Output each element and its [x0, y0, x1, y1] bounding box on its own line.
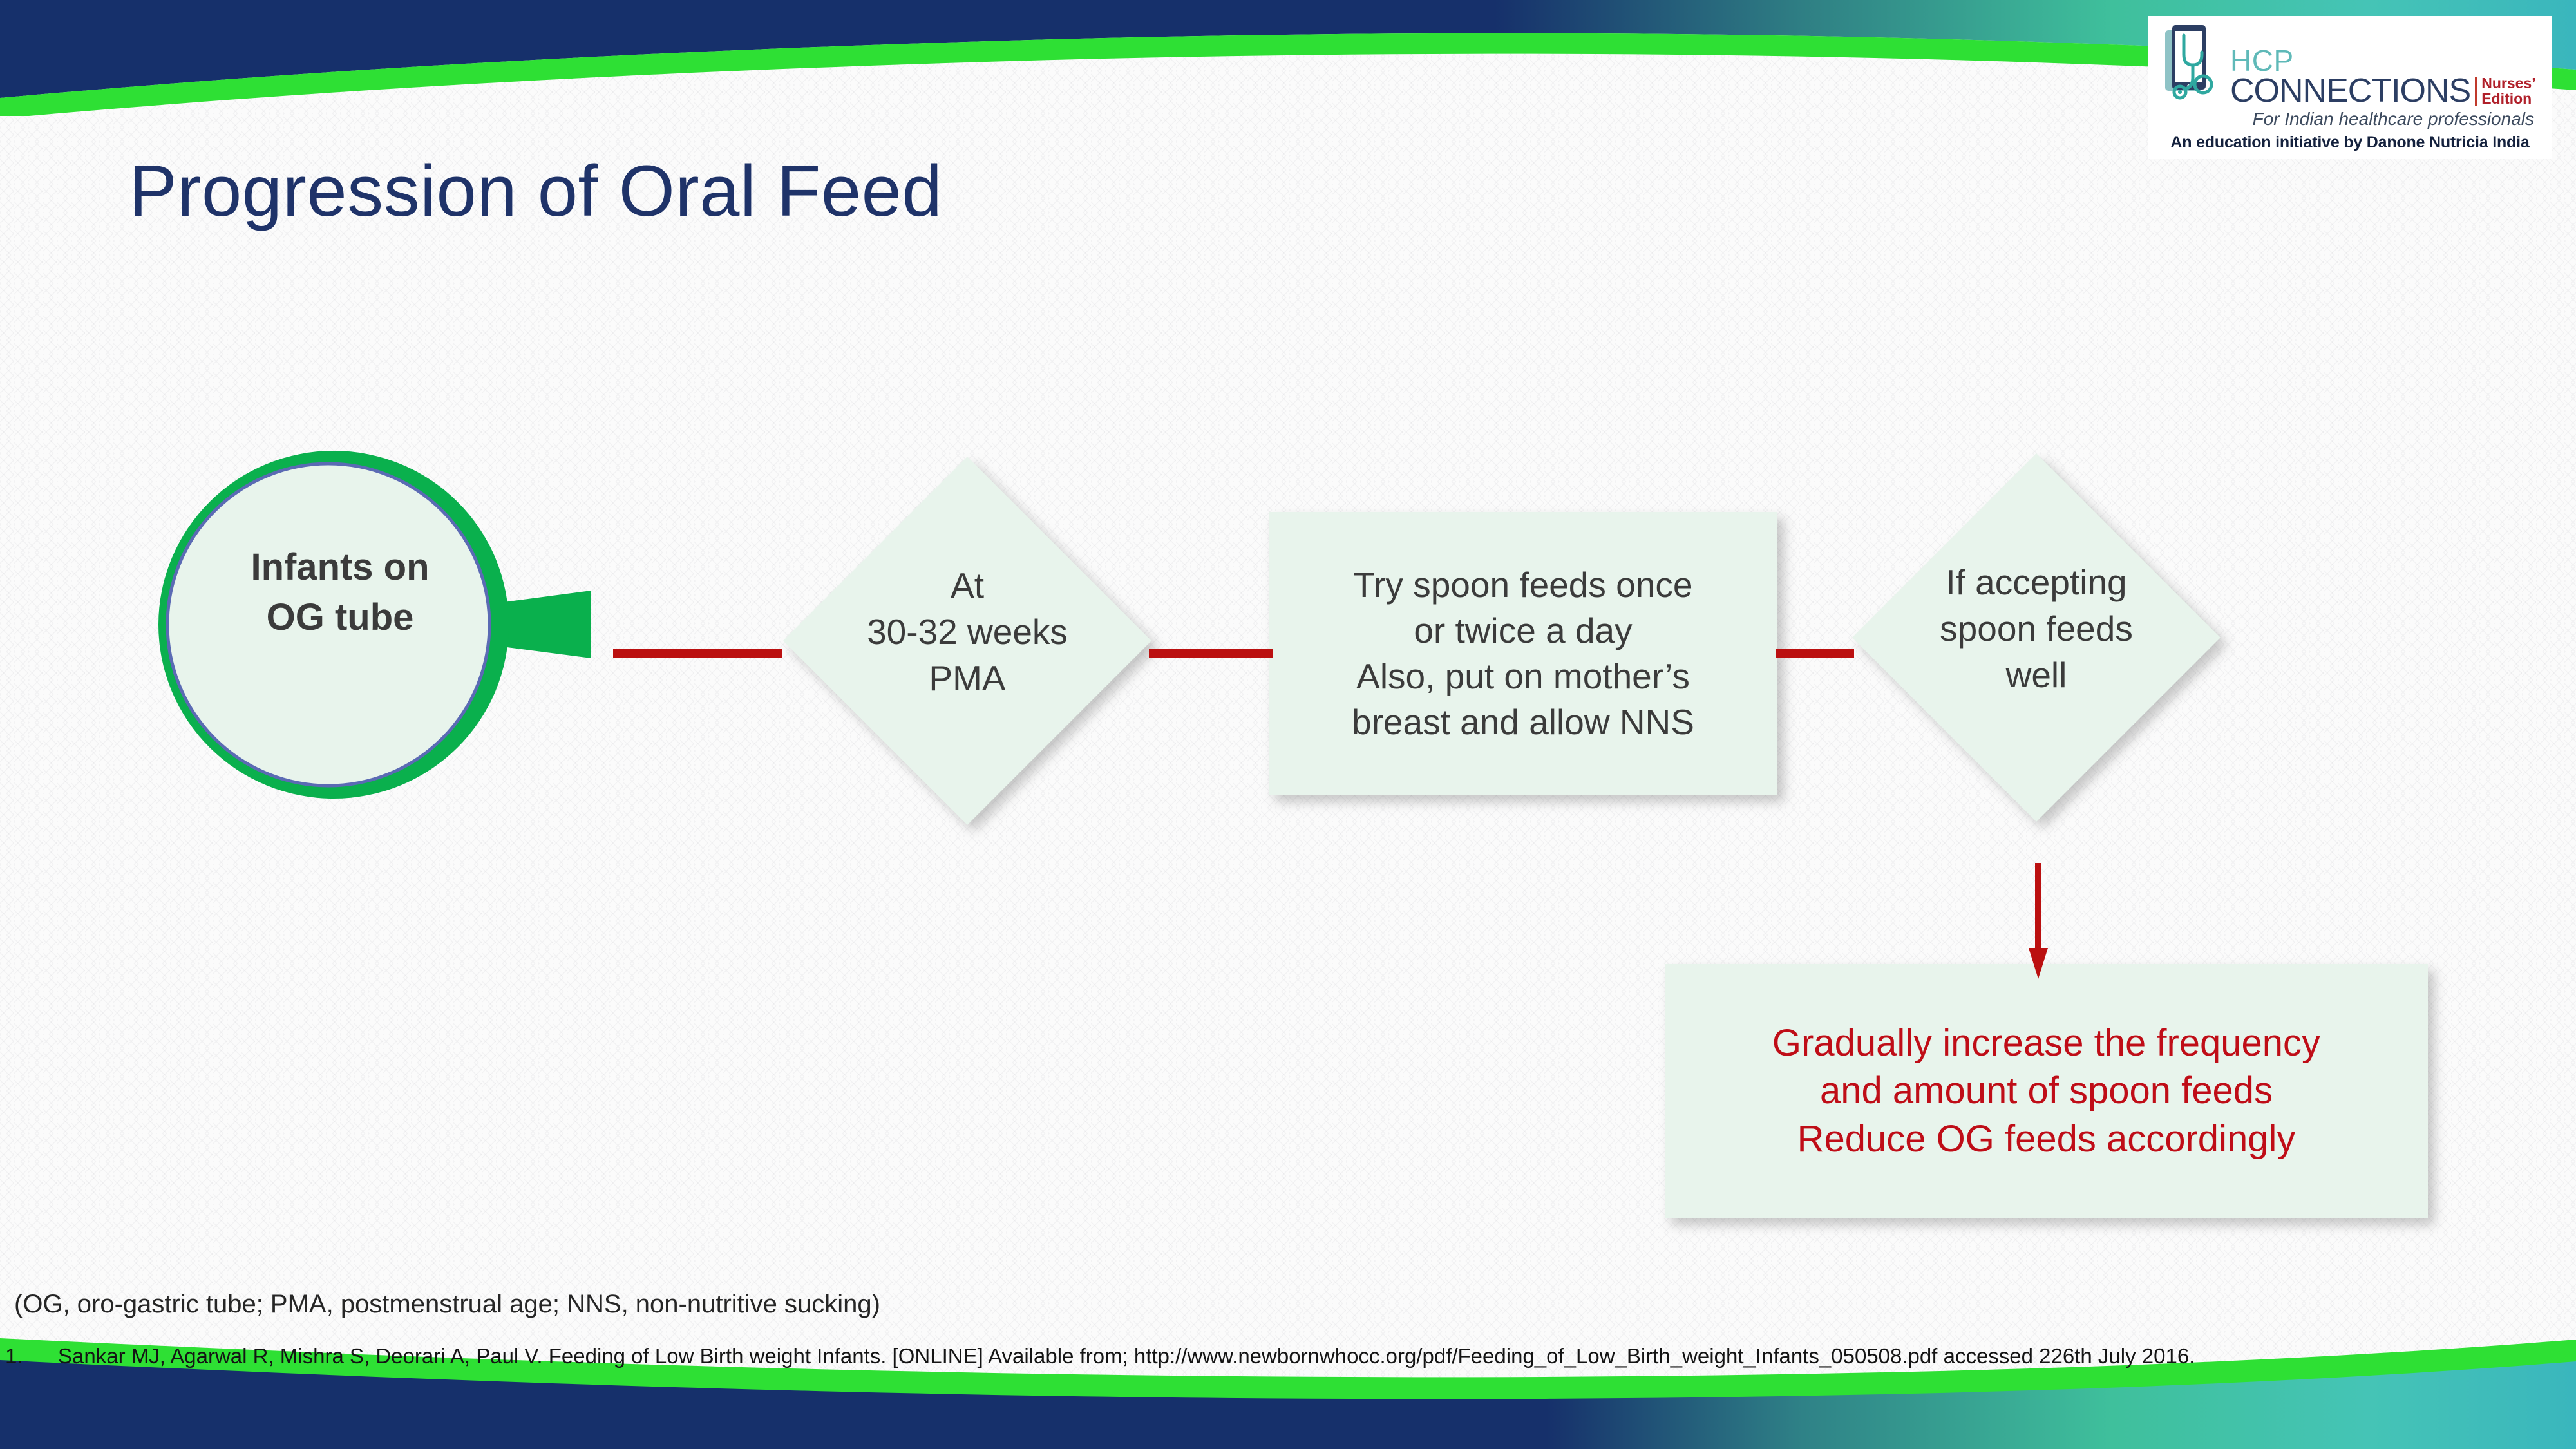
flow-node-decision-pma[interactable]: At 30-32 weeks PMA [781, 454, 1154, 828]
logo-divider [2475, 77, 2477, 106]
logo-initiative-text: An education initiative by Danone Nutric… [2163, 133, 2537, 152]
logo-hcp-text: HCP [2230, 46, 2537, 75]
down-arrow-icon [2029, 863, 2048, 979]
flow-node-decision-pma-label: At 30-32 weeks PMA [781, 562, 1154, 701]
spoon-line-1: Try spoon feeds once [1352, 562, 1694, 608]
outcome-line-2: and amount of spoon feeds [1772, 1067, 2320, 1115]
slide-canvas: HCP CONNECTIONS Nurses’ Edition For Indi… [0, 0, 2576, 1449]
flow-node-outcome[interactable]: Gradually increase the frequency and amo… [1665, 964, 2428, 1218]
connector-action1-to-decision2 [1776, 649, 1854, 658]
connector-decision2-to-outcome-arrow [2029, 863, 2048, 979]
reference-text: Sankar MJ, Agarwal R, Mishra S, Deorari … [58, 1344, 2575, 1368]
logo-edition-text: Nurses’ Edition [2481, 75, 2535, 108]
pma-line-2: 30-32 weeks [781, 609, 1154, 655]
logo-edition-line2: Edition [2481, 91, 2535, 107]
logo-connections-text: CONNECTIONS [2230, 75, 2470, 108]
abbreviations-note: (OG, oro-gastric tube; PMA, postmenstrua… [14, 1290, 880, 1319]
tablet-stethoscope-icon [2163, 23, 2225, 108]
flow-node-outcome-label: Gradually increase the frequency and amo… [1759, 1019, 2333, 1163]
start-line-2: OG tube [173, 592, 507, 643]
spoon-line-3: Also, put on mother’s [1352, 654, 1694, 699]
outcome-line-1: Gradually increase the frequency [1772, 1019, 2320, 1067]
logo-edition-line1: Nurses’ [2481, 76, 2535, 91]
pma-line-1: At [781, 562, 1154, 609]
pma-line-3: PMA [781, 655, 1154, 701]
connector-decision1-to-action1 [1149, 649, 1273, 658]
reference-citation: 1. Sankar MJ, Agarwal R, Mishra S, Deora… [5, 1344, 2575, 1368]
reference-number: 1. [5, 1344, 58, 1368]
flow-node-start-label: Infants on OG tube [173, 542, 507, 643]
flow-node-decision-accepting[interactable]: If accepting spoon feeds well [1850, 451, 2223, 824]
outcome-line-3: Reduce OG feeds accordingly [1772, 1115, 2320, 1163]
spoon-line-2: or twice a day [1352, 608, 1694, 654]
flow-node-decision-accepting-label: If accepting spoon feeds well [1850, 559, 2223, 698]
connector-start-to-decision1 [613, 649, 782, 658]
logo-tagline: For Indian healthcare professionals [2163, 109, 2537, 129]
page-title: Progression of Oral Feed [129, 149, 942, 232]
accept-line-3: well [1850, 652, 2223, 698]
hcp-connections-logo: HCP CONNECTIONS Nurses’ Edition For Indi… [2148, 16, 2552, 159]
spoon-line-4: breast and allow NNS [1352, 699, 1694, 745]
flow-node-start[interactable]: Infants on OG tube [140, 446, 617, 806]
flow-node-action-spoon-feeds[interactable]: Try spoon feeds once or twice a day Also… [1269, 512, 1777, 795]
accept-line-2: spoon feeds [1850, 605, 2223, 652]
start-line-1: Infants on [173, 542, 507, 592]
flow-node-action-spoon-feeds-label: Try spoon feeds once or twice a day Also… [1341, 562, 1705, 745]
accept-line-1: If accepting [1850, 559, 2223, 605]
